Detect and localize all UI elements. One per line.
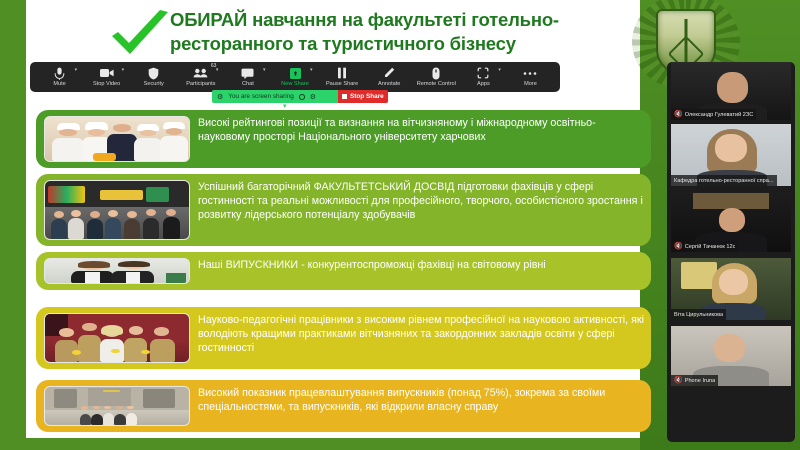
participant-name-label: Віта Цирульникова [671, 309, 726, 320]
toolbar-button-label: Remote Control [417, 81, 456, 87]
muted-microphone-icon: 🔇 [674, 243, 683, 250]
participant-name-label: Кафедра готельно-ресторанної спра... [671, 175, 777, 186]
participant-name-text: Олександр Гулеватий 2ЗС [685, 112, 754, 118]
toolbar-button-label: Chat [242, 81, 254, 87]
toolbar-button-label: Stop Video [93, 81, 120, 87]
participant-name-text: Віта Цирульникова [674, 312, 723, 318]
microphone-icon [54, 67, 65, 80]
chevron-down-icon[interactable]: ▾ [216, 67, 219, 73]
share-screen-icon [290, 67, 301, 80]
slide-title: ОБИРАЙ навчання на факультеті готельно- … [170, 8, 600, 55]
slide-bottom-accent-bar [0, 438, 660, 450]
stop-share-label: Stop Share [350, 93, 384, 100]
people-icon [193, 67, 208, 80]
participant-video-tile[interactable]: Кафедра готельно-ресторанної спра... [671, 124, 791, 186]
sharing-settings-gear-icon[interactable]: ⚙ [310, 93, 316, 101]
shield-icon [148, 67, 159, 80]
photo-graduates [44, 258, 190, 284]
toolbar-button-label: Apps [477, 81, 490, 87]
chevron-down-icon[interactable]: ▾ [263, 67, 266, 73]
participant-name-label: 🔇Сергій Тачанюк 12с [671, 241, 738, 252]
ellipsis-icon [523, 67, 537, 80]
slide-row-text: Високі рейтингові позиції та визнання на… [198, 110, 653, 168]
slide-row: Наші ВИПУСКНИКИ - конкурентоспроможці фа… [36, 252, 664, 290]
toolbar-button-more[interactable]: More [507, 62, 554, 92]
slide-row: Високий показник працевлаштування випуск… [36, 380, 664, 432]
zoom-meeting-toolbar[interactable]: Mute▾Stop Video▾Security63Participants▾C… [30, 62, 560, 92]
chevron-down-icon[interactable]: ▾ [310, 67, 313, 73]
toolbar-button-stop-video[interactable]: Stop Video▾ [83, 62, 130, 92]
camera-icon [100, 67, 114, 80]
toolbar-button-label: Mute [53, 81, 65, 87]
participant-video-tile[interactable]: 🔇Олександр Гулеватий 2ЗС [671, 62, 791, 120]
slide-row-text: Наші ВИПУСКНИКИ - конкурентоспроможці фа… [198, 252, 653, 290]
participant-video-tile[interactable]: 🔇Phone Iruna [671, 326, 791, 386]
toolbar-button-participants[interactable]: 63Participants▾ [177, 62, 224, 92]
slide-row: Науково-педагогічні працівники з високим… [36, 307, 664, 369]
stop-share-button[interactable]: Stop Share [338, 90, 388, 103]
mouse-icon [432, 67, 440, 80]
participant-name-text: Phone Iruna [685, 378, 715, 384]
pencil-icon [383, 67, 395, 80]
photo-students-chefs [44, 116, 190, 162]
toolbar-button-security[interactable]: Security [130, 62, 177, 92]
toolbar-button-label: More [524, 81, 537, 87]
toolbar-button-pause-share[interactable]: Pause Share [319, 62, 366, 92]
chevron-down-icon[interactable]: ▾ [122, 67, 125, 73]
participants-video-panel[interactable]: ✋ Олександр Гул... 🔇Олександр Гулеватий … [667, 62, 795, 442]
chat-bubble-icon [241, 67, 254, 80]
toolbar-button-label: Security [144, 81, 164, 87]
participant-name-label: 🔇Олександр Гулеватий 2ЗС [671, 109, 756, 120]
photo-exhibition-group [44, 180, 190, 240]
toolbar-button-apps[interactable]: Apps▾ [460, 62, 507, 92]
chevron-down-icon[interactable]: ▾ [75, 67, 78, 73]
share-screen-icon [290, 68, 301, 79]
participant-video-tile[interactable]: Віта Цирульникова [671, 258, 791, 320]
photo-group-steps [44, 386, 190, 426]
toolbar-button-mute[interactable]: Mute▾ [36, 62, 83, 92]
slide-row: Успішний багаторічний ФАКУЛЬТЕТСЬКИЙ ДОС… [36, 174, 664, 246]
muted-microphone-icon: 🔇 [674, 111, 683, 118]
participant-name-label: 🔇Phone Iruna [671, 375, 718, 386]
sharing-indicator-icon: ⚙ [217, 93, 223, 101]
slide-title-line2: ресторанного та туристичного бізнесу [170, 32, 600, 56]
chevron-down-icon[interactable]: ▾ [498, 67, 501, 73]
slide-left-accent-bar [0, 0, 26, 450]
participant-name-text: Кафедра готельно-ресторанної спра... [674, 178, 774, 184]
record-dot-icon[interactable] [299, 94, 305, 100]
toolbar-button-new-share[interactable]: New Share▾ [271, 62, 318, 92]
toolbar-button-remote-control[interactable]: Remote Control [413, 62, 460, 92]
toolbar-button-annotate[interactable]: Annotate [366, 62, 413, 92]
participant-name-text: Сергій Тачанюк 12с [685, 244, 736, 250]
slide-row-text: Успішний багаторічний ФАКУЛЬТЕТСЬКИЙ ДОС… [198, 174, 653, 246]
toolbar-button-label: Pause Share [326, 81, 358, 87]
toolbar-button-chat[interactable]: Chat▾ [224, 62, 271, 92]
banner-collapse-caret-icon[interactable]: ▾ [283, 102, 287, 110]
sharing-banner-text: You are screen sharing [228, 93, 294, 100]
slide-row: Високі рейтингові позиції та визнання на… [36, 110, 664, 168]
toolbar-button-label: New Share [281, 81, 309, 87]
slide-row-text: Науково-педагогічні працівники з високим… [198, 307, 653, 369]
toolbar-button-label: Annotate [378, 81, 400, 87]
stop-square-icon [342, 94, 347, 99]
pause-icon [337, 67, 347, 80]
apps-icon [477, 67, 489, 80]
toolbar-button-label: Participants [186, 81, 215, 87]
slide-row-text: Високий показник працевлаштування випуск… [198, 380, 653, 432]
muted-microphone-icon: 🔇 [674, 377, 683, 384]
slide-title-line1: ОБИРАЙ навчання на факультеті готельно- [170, 8, 600, 32]
photo-staff-bananas [44, 313, 190, 363]
participant-video-tile[interactable]: 🔇Сергій Тачанюк 12с [671, 192, 791, 252]
green-checkmark-icon [108, 10, 172, 60]
